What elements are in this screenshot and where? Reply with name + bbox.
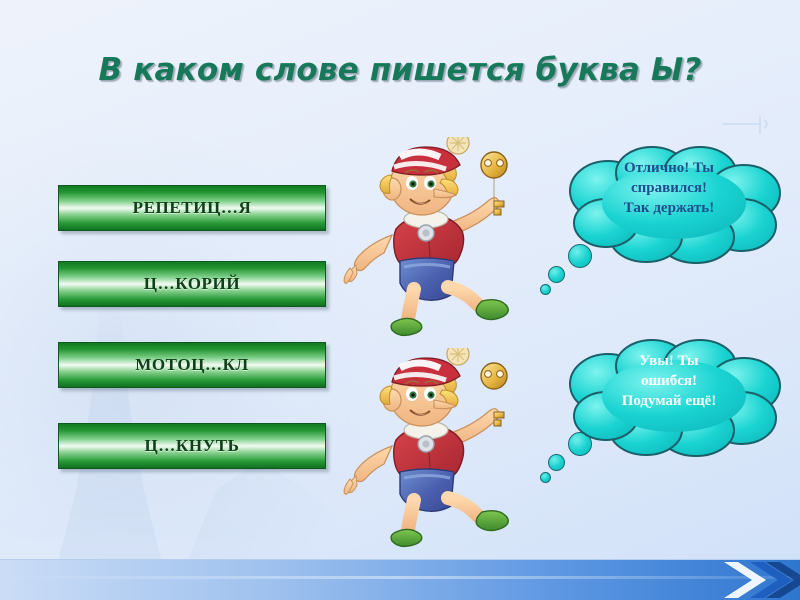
- answer-button-3-label: МОТОЦ…КЛ: [135, 355, 249, 375]
- answer-button-2[interactable]: Ц…КОРИЙ: [58, 261, 326, 307]
- bottom-bar-sheen: [0, 576, 800, 579]
- background-watermark-hill: [0, 120, 380, 540]
- answer-button-1-label: РЕПЕТИЦ…Я: [133, 198, 252, 218]
- answer-button-4[interactable]: Ц…КНУТЬ: [58, 423, 326, 469]
- feedback-text-incorrect: Увы! Ты ошибся! Подумай ещё!: [574, 352, 764, 411]
- feedback-bubble-correct: Отлично! Ты справился! Так держать!: [556, 145, 792, 265]
- answer-button-4-label: Ц…КНУТЬ: [144, 436, 239, 456]
- answer-button-2-label: Ц…КОРИЙ: [144, 274, 240, 294]
- back-button[interactable]: [708, 560, 800, 600]
- feedback-text-correct: Отлично! Ты справился! Так держать!: [574, 159, 764, 218]
- buratino-character-top: [330, 137, 540, 352]
- slide-canvas: В каком слове пишется буква Ы? РЕПЕТИЦ…Я…: [0, 0, 800, 600]
- feedback-bubble-incorrect: Увы! Ты ошибся! Подумай ещё!: [556, 338, 792, 458]
- bottom-bar: [0, 559, 800, 600]
- page-title: В каком слове пишется буква Ы?: [0, 52, 800, 88]
- answer-button-1[interactable]: РЕПЕТИЦ…Я: [58, 185, 326, 231]
- answer-button-3[interactable]: МОТОЦ…КЛ: [58, 342, 326, 388]
- buratino-character-bottom: [330, 348, 540, 563]
